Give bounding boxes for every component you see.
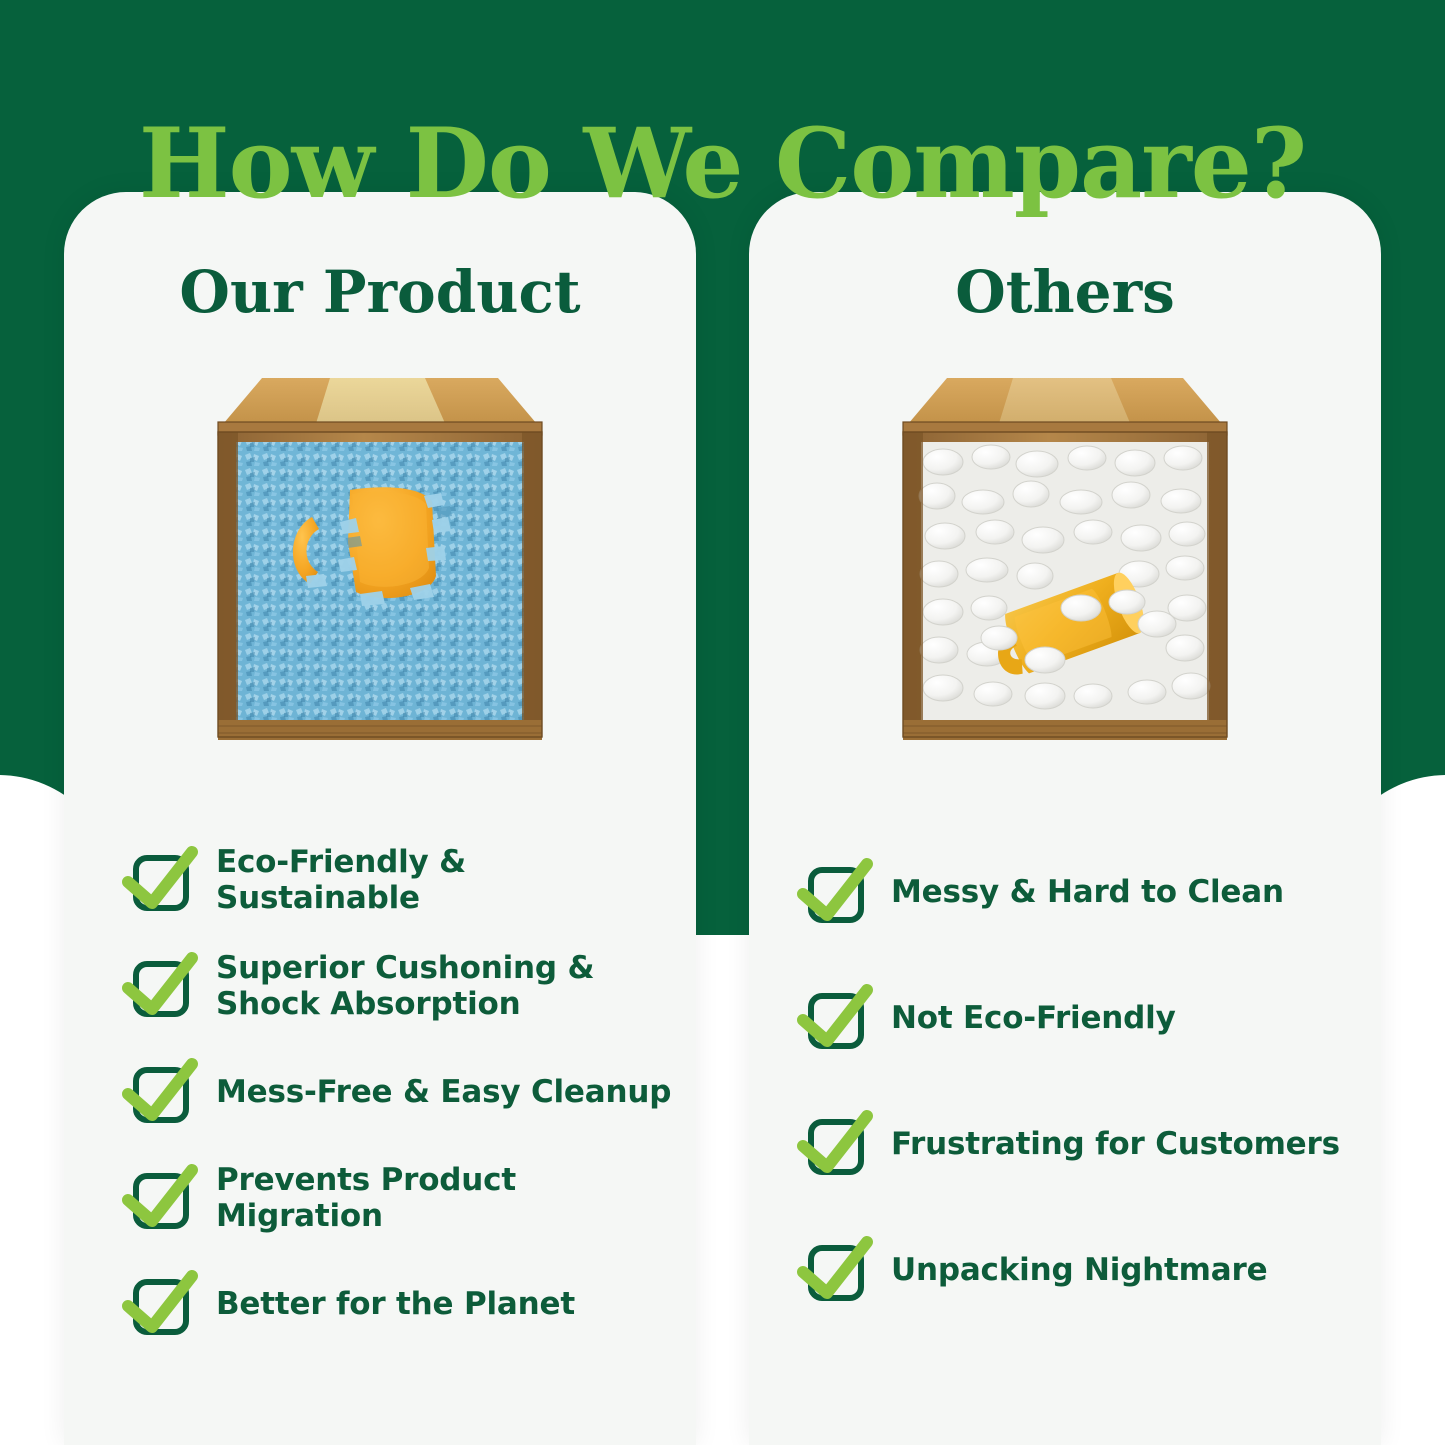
- checkbox-checked-icon: [797, 854, 875, 932]
- feature-label: Unpacking Nightmare: [891, 1253, 1267, 1289]
- feature-list-our-product: Eco-Friendly & Sustainable Superior Cush…: [64, 752, 696, 1358]
- feature-list-others: Messy & Hard to Clean Not Eco-Friendly: [749, 752, 1381, 1334]
- list-item: Unpacking Nightmare: [749, 1208, 1381, 1334]
- image-box-with-blue-crinkle-paper-and-orange-mug: [210, 362, 550, 752]
- checkbox-checked-icon: [122, 1054, 200, 1132]
- checkbox-checked-icon: [122, 948, 200, 1026]
- feature-label: Mess-Free & Easy Cleanup: [216, 1075, 671, 1111]
- list-item: Messy & Hard to Clean: [749, 830, 1381, 956]
- feature-label: Frustrating for Customers: [891, 1127, 1340, 1163]
- feature-label: Eco-Friendly & Sustainable: [216, 845, 676, 917]
- list-item: Superior Cushoning & Shock Absorption: [64, 934, 696, 1040]
- list-item: Not Eco-Friendly: [749, 956, 1381, 1082]
- comparison-columns: Our Product: [64, 192, 1381, 1445]
- feature-label: Not Eco-Friendly: [891, 1001, 1176, 1037]
- checkbox-checked-icon: [122, 1160, 200, 1238]
- list-item: Eco-Friendly & Sustainable: [64, 828, 696, 934]
- page-title: How Do We Compare?: [0, 110, 1445, 218]
- feature-label: Superior Cushoning & Shock Absorption: [216, 951, 594, 1023]
- checkbox-checked-icon: [797, 980, 875, 1058]
- checkbox-checked-icon: [122, 1266, 200, 1344]
- column-our-product: Our Product: [64, 192, 696, 1445]
- image-box-with-foam-packing-peanuts-and-yellow-mug: [895, 362, 1235, 752]
- checkbox-checked-icon: [797, 1106, 875, 1184]
- comparison-infographic: How Do We Compare? Our Product: [0, 0, 1445, 1445]
- checkbox-checked-icon: [797, 1232, 875, 1310]
- list-item: Prevents Product Migration: [64, 1146, 696, 1252]
- feature-label: Prevents Product Migration: [216, 1163, 676, 1235]
- feature-label: Messy & Hard to Clean: [891, 875, 1284, 911]
- checkbox-checked-icon: [122, 842, 200, 920]
- list-item: Better for the Planet: [64, 1252, 696, 1358]
- list-item: Mess-Free & Easy Cleanup: [64, 1040, 696, 1146]
- column-others: Others: [749, 192, 1381, 1445]
- feature-label: Better for the Planet: [216, 1287, 575, 1323]
- list-item: Frustrating for Customers: [749, 1082, 1381, 1208]
